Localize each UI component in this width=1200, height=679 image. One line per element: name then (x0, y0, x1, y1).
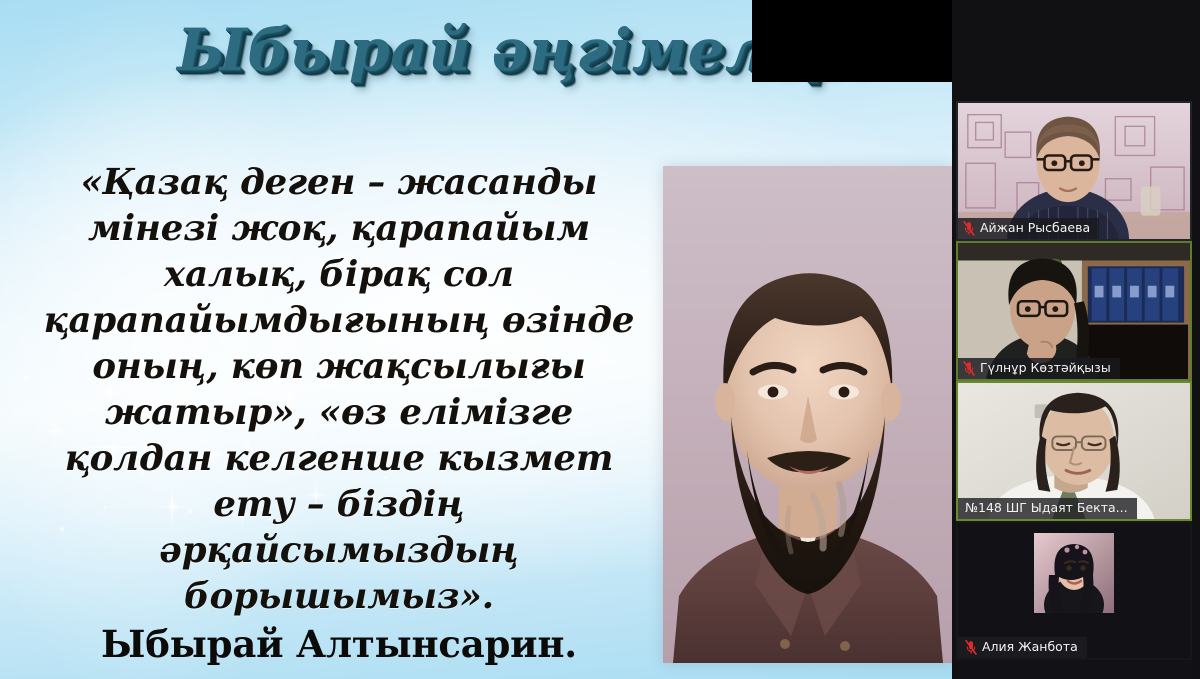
participant-tile-1[interactable]: Айжан Рысбаева (956, 101, 1192, 241)
altynsarin-portrait (663, 166, 953, 663)
mic-muted-icon (963, 221, 975, 236)
participant-tile-2[interactable]: Гүлнұр Көзтәйқызы (956, 241, 1192, 381)
panel-bottom-strip (956, 660, 1192, 679)
shared-slide: Ыбырай әңгімелері «Қазақ деген – жасанды… (0, 0, 1046, 679)
meeting-screen: Ыбырай әңгімелері «Қазақ деген – жасанды… (0, 0, 1200, 679)
participant-name-1: Айжан Рысбаева (980, 220, 1090, 236)
participant-tile-4[interactable]: Алия Жанбота (956, 521, 1192, 660)
quote-author: Ыбырай Алтынсарин. (34, 623, 644, 666)
mic-muted-icon (965, 640, 977, 655)
participant-name-4: Алия Жанбота (982, 639, 1078, 655)
avatar (1034, 533, 1114, 613)
panel-top-filler (752, 0, 952, 82)
participant-name-3: №148 ШГ Ыдаят Бекта... (965, 500, 1128, 516)
participant-label-1: Айжан Рысбаева (958, 218, 1099, 239)
participant-name-2: Гүлнұр Көзтәйқызы (980, 360, 1111, 376)
participant-label-2: Гүлнұр Көзтәйқызы (958, 358, 1120, 379)
participant-video-panel: Айжан Рысбаева (952, 0, 1200, 679)
quote-block: «Қазақ деген – жасанды мінезі жоқ, қарап… (34, 160, 644, 665)
portrait-illustration (663, 166, 953, 663)
mic-muted-icon (963, 361, 975, 376)
participant-tile-3[interactable]: №148 ШГ Ыдаят Бекта... (956, 381, 1192, 521)
participant-label-3: №148 ШГ Ыдаят Бекта... (958, 498, 1137, 519)
participant-label-4: Алия Жанбота (958, 637, 1087, 658)
quote-text: «Қазақ деген – жасанды мінезі жоқ, қарап… (34, 160, 644, 620)
